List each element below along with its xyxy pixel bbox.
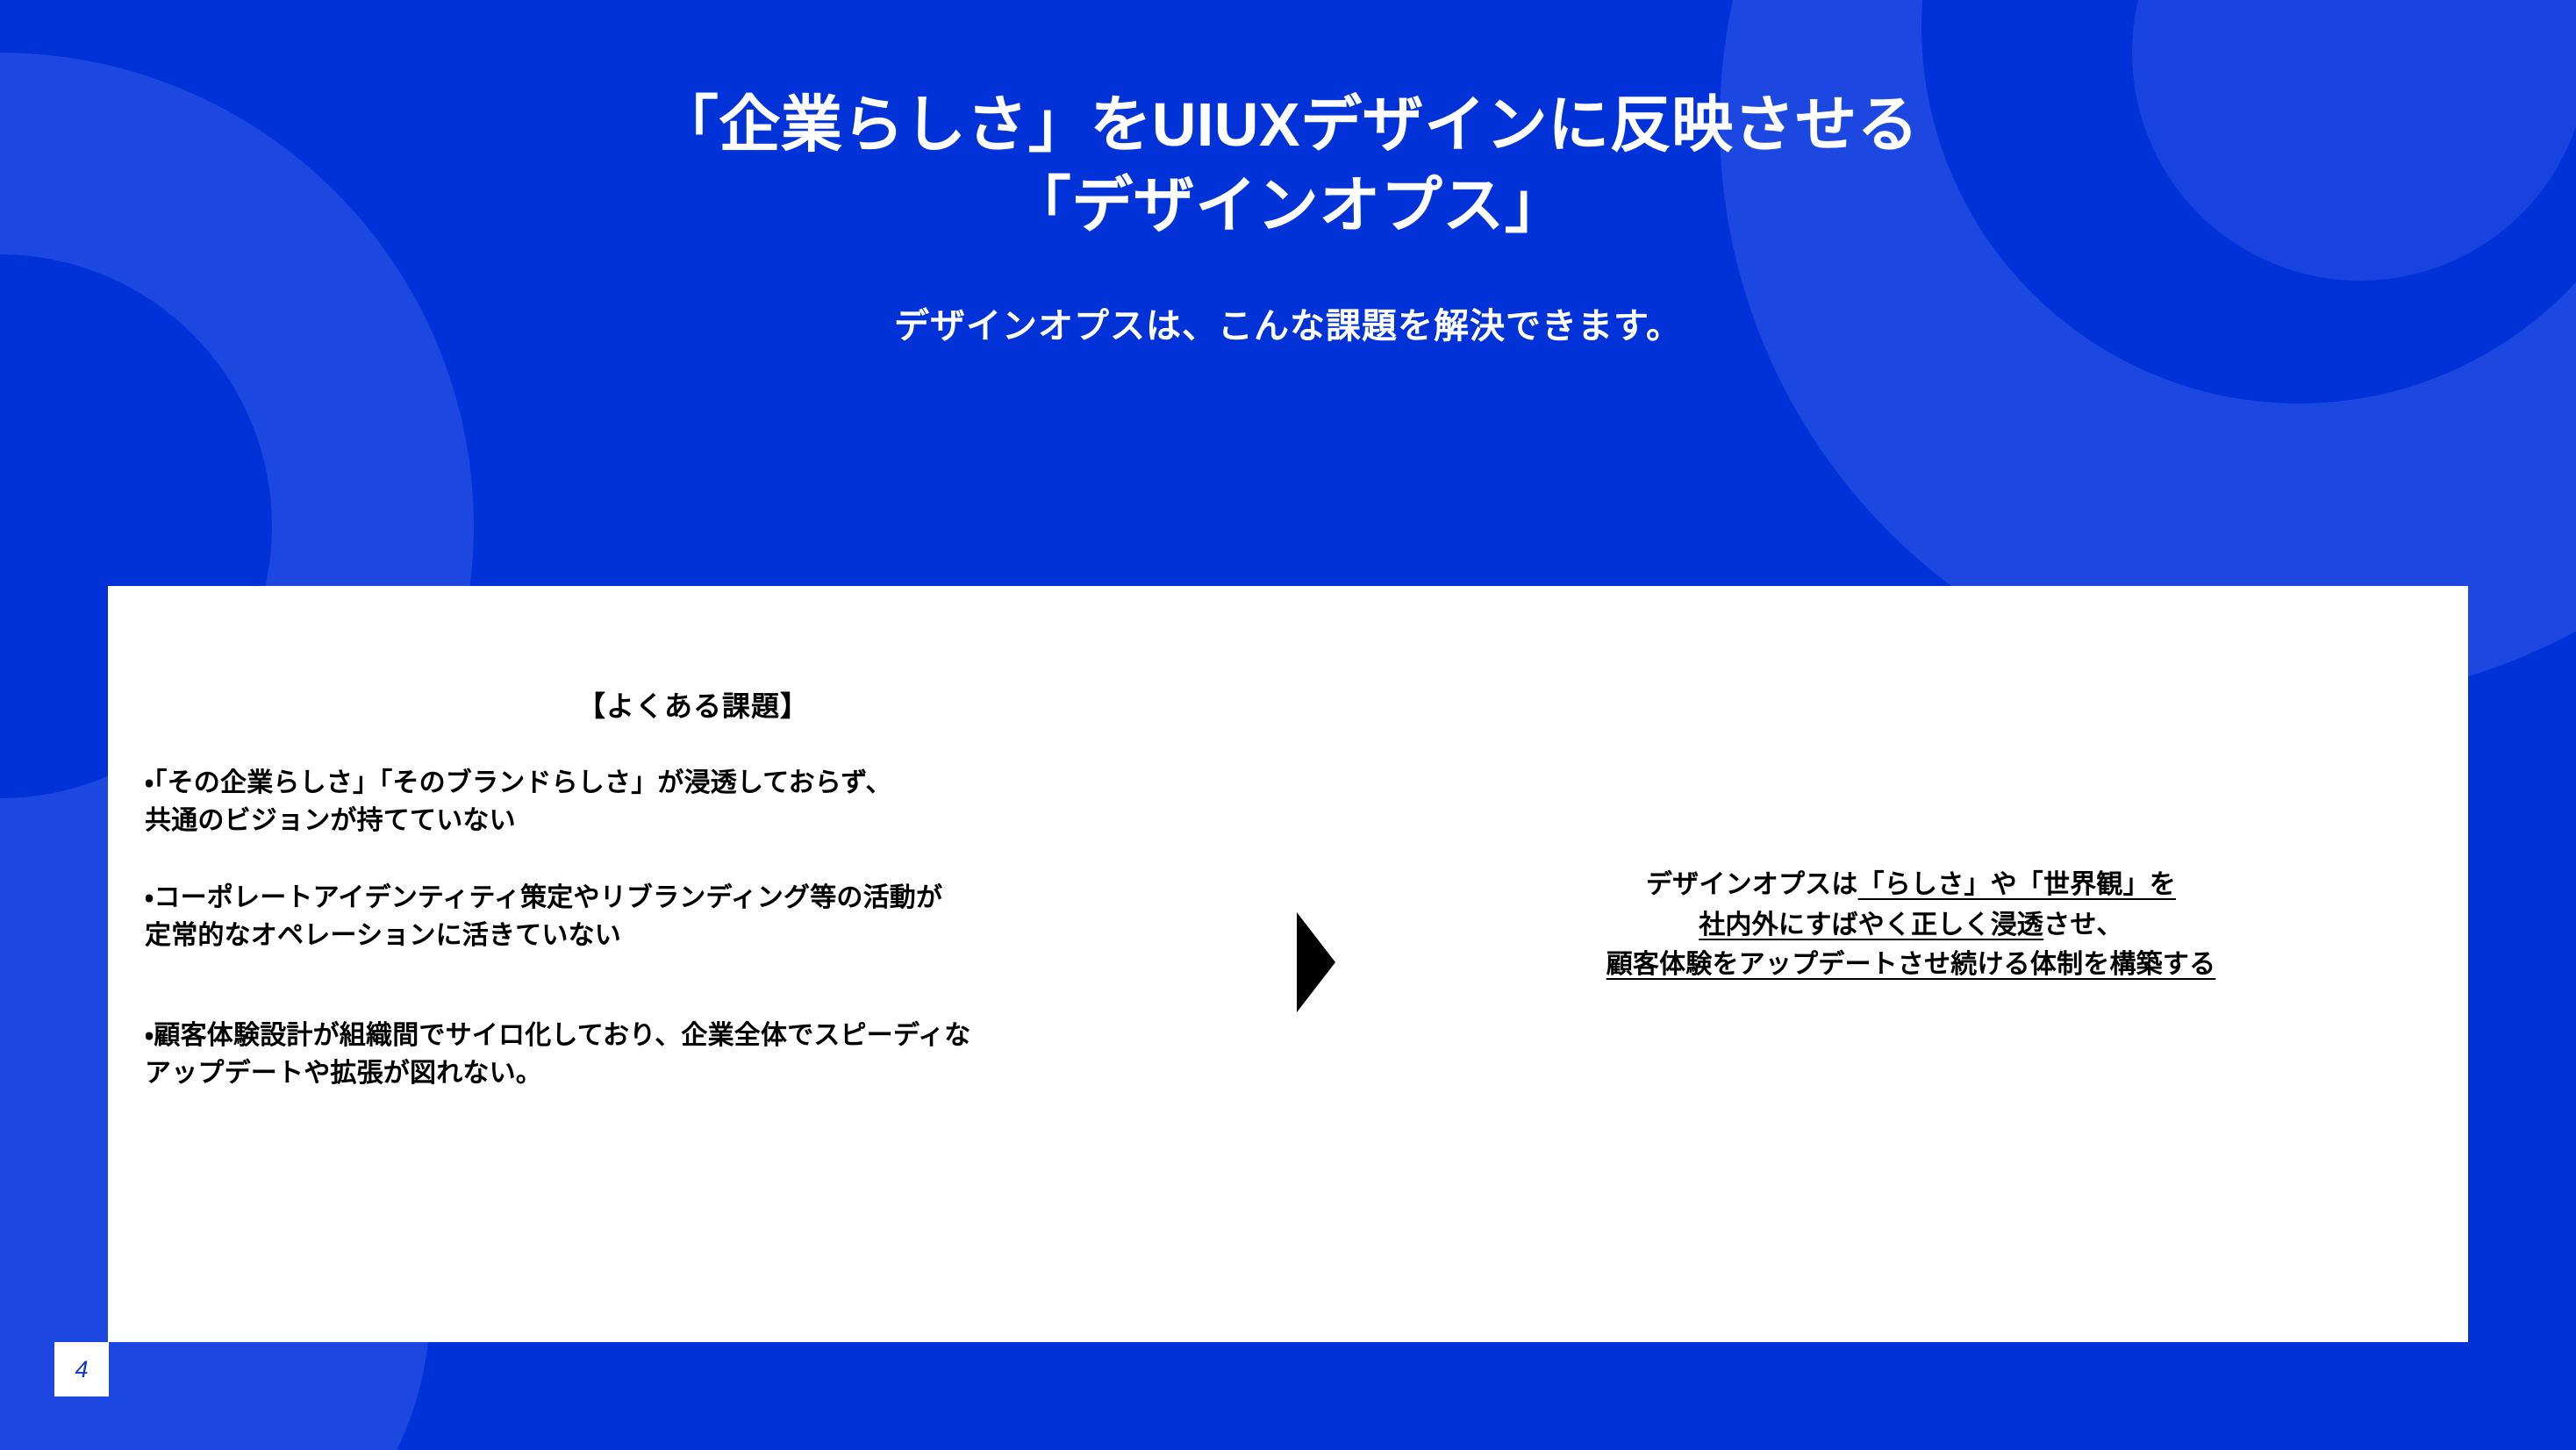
- issue-item: ・「その企業らしさ」「そのブランドらしさ」が浸透しておらず、 共通のビジョンが持…: [145, 765, 1241, 839]
- content-card: 【よくある課題】 ・「その企業らしさ」「そのブランドらしさ」が浸透しておらず、 …: [108, 586, 2468, 1342]
- solution-line-3: 顧客体験をアップデートさせ続ける体制を構築する: [1406, 945, 2415, 985]
- slide-header: 「企業らしさ」をUIUXデザインに反映させる 「デザインオプス」 デザインオプス…: [0, 0, 2576, 348]
- page-title: 「企業らしさ」をUIUXデザインに反映させる 「デザインオプス」: [0, 0, 2576, 246]
- issue-item-line-2: アップデートや拡張が図れない。: [145, 1055, 1241, 1093]
- triangle-right-icon: [1297, 912, 1335, 1012]
- issue-item-line-2: 共通のビジョンが持てていない: [145, 803, 1241, 840]
- page-title-line-1: 「企業らしさ」をUIUXデザインに反映させる: [657, 90, 1919, 159]
- issue-item: ・コーポレートアイデンティティ策定やリブランディング等の活動が 定常的なオペレー…: [145, 880, 1241, 954]
- issue-item-line-1: ・「その企業らしさ」「そのブランドらしさ」が浸透しておらず、: [145, 768, 892, 797]
- slide-root: 「企業らしさ」をUIUXデザインに反映させる 「デザインオプス」 デザインオプス…: [0, 0, 2576, 1450]
- page-subtitle: デザインオプスは、こんな課題を解決できます。: [0, 297, 2576, 348]
- solution-line-2-plain: させ、: [2043, 911, 2123, 939]
- issue-item-line-1: ・顧客体験設計が組織間でサイロ化しており、企業全体でスピーディな: [145, 1021, 971, 1050]
- issue-item-line-2: 定常的なオペレーションに活きていない: [145, 918, 1241, 955]
- issue-item: ・顧客体験設計が組織間でサイロ化しており、企業全体でスピーディな アップデートや…: [145, 1018, 1241, 1092]
- issues-column: 【よくある課題】 ・「その企業らしさ」「そのブランドらしさ」が浸透しておらず、 …: [145, 586, 1241, 1342]
- solution-line-1-plain: デザインオプスは: [1646, 870, 1858, 899]
- solution-line-2-underlined: 社内外にすばやく正しく浸透: [1699, 911, 2043, 939]
- solution-column: デザインオプスは「らしさ」や「世界観」を 社内外にすばやく正しく浸透させ、 顧客…: [1406, 586, 2415, 1342]
- issues-heading: 【よくある課題】: [145, 684, 1241, 725]
- page-number-badge: 4: [54, 1342, 109, 1396]
- content-card-inner: 【よくある課題】 ・「その企業らしさ」「そのブランドらしさ」が浸透しておらず、 …: [108, 586, 2468, 1342]
- issue-item-line-1: ・コーポレートアイデンティティ策定やリブランディング等の活動が: [145, 883, 942, 912]
- solution-line-1: デザインオプスは「らしさ」や「世界観」を: [1406, 865, 2415, 905]
- page-title-line-2: 「デザインオプス」: [0, 165, 2576, 246]
- solution-line-2: 社内外にすばやく正しく浸透させ、: [1406, 905, 2415, 946]
- solution-line-1-underlined: 「らしさ」や「世界観」を: [1858, 870, 2176, 899]
- solution-statement: デザインオプスは「らしさ」や「世界観」を 社内外にすばやく正しく浸透させ、 顧客…: [1406, 865, 2415, 985]
